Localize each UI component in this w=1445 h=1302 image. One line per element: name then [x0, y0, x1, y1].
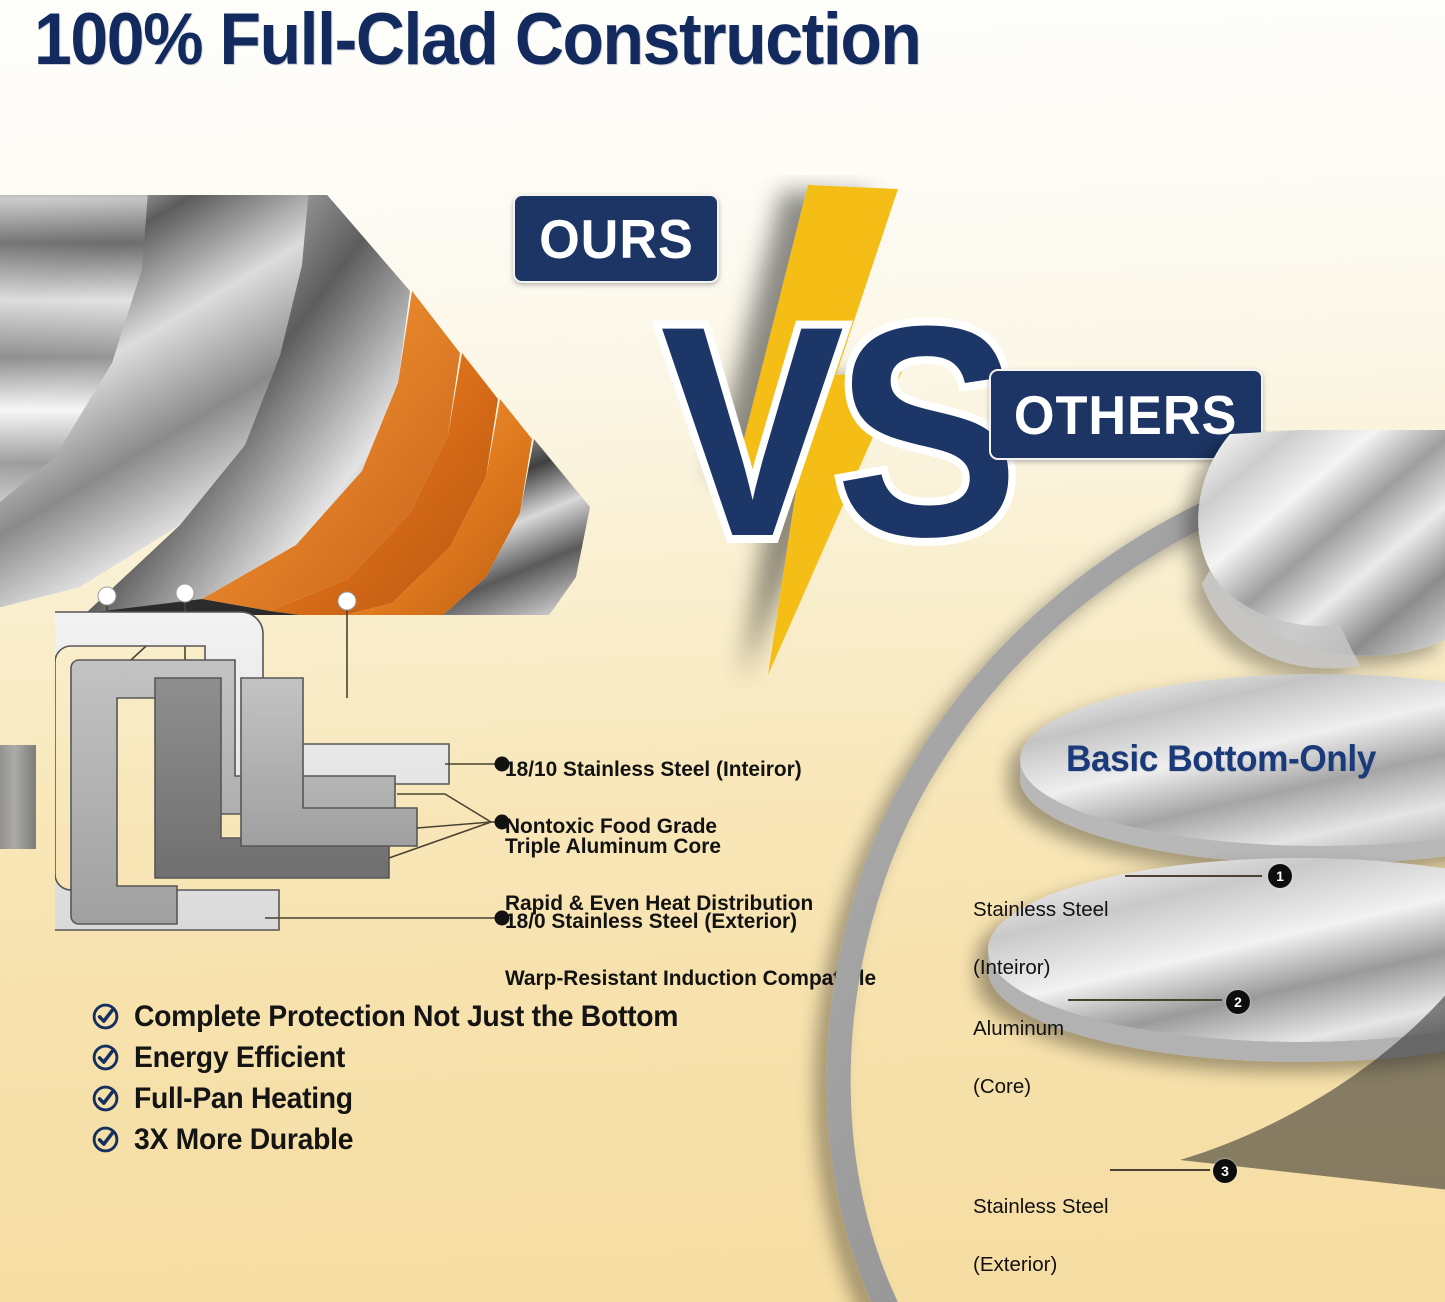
number-badge-3: 3 [1213, 1159, 1237, 1183]
benefit-label: Complete Protection Not Just the Bottom [134, 1000, 678, 1034]
check-circle-icon [92, 1126, 119, 1153]
basic-bottom-only-heading: Basic Bottom-Only [1066, 738, 1376, 780]
right-label-2-line1: Aluminum [973, 1014, 1064, 1043]
check-circle-icon [92, 1003, 119, 1030]
benefit-item: 3X More Durable [92, 1119, 732, 1160]
benefit-item: Complete Protection Not Just the Bottom [92, 996, 732, 1037]
right-label-1-line2: (Inteiror) [973, 953, 1109, 982]
right-label-2-line2: (Core) [973, 1072, 1064, 1101]
benefit-label: Full-Pan Heating [134, 1082, 353, 1116]
right-label-stainless-exterior: Stainless Steel (Exterior) [973, 1163, 1109, 1302]
benefit-item: Full-Pan Heating [92, 1078, 732, 1119]
callout-1-line1: 18/10 Stainless Steel (Inteiror) [505, 755, 802, 784]
benefit-label: Energy Efficient [134, 1041, 345, 1075]
right-label-1-line1: Stainless Steel [973, 895, 1109, 924]
benefit-label: 3X More Durable [134, 1123, 353, 1157]
layer-disc-1 [1198, 430, 1445, 668]
page-title: 100% Full-Clad Construction [34, 2, 920, 79]
number-badge-1: 1 [1268, 864, 1292, 888]
number-badge-2: 2 [1226, 990, 1250, 1014]
badge-ours-label: OURS [539, 207, 694, 271]
badge-ours: OURS [513, 194, 719, 283]
check-circle-icon [92, 1085, 119, 1112]
benefit-item: Energy Efficient [92, 1037, 732, 1078]
right-label-aluminum-core: Aluminum (Core) [973, 985, 1064, 1131]
benefits-list: Complete Protection Not Just the Bottom … [92, 996, 732, 1160]
right-label-3-line2: (Exterior) [973, 1250, 1109, 1279]
left-edge-pan-fragment [0, 745, 36, 849]
infographic-canvas: 100% Full-Clad Construction [0, 0, 1445, 1302]
right-label-3-line1: Stainless Steel [973, 1192, 1109, 1221]
check-circle-icon [92, 1044, 119, 1071]
